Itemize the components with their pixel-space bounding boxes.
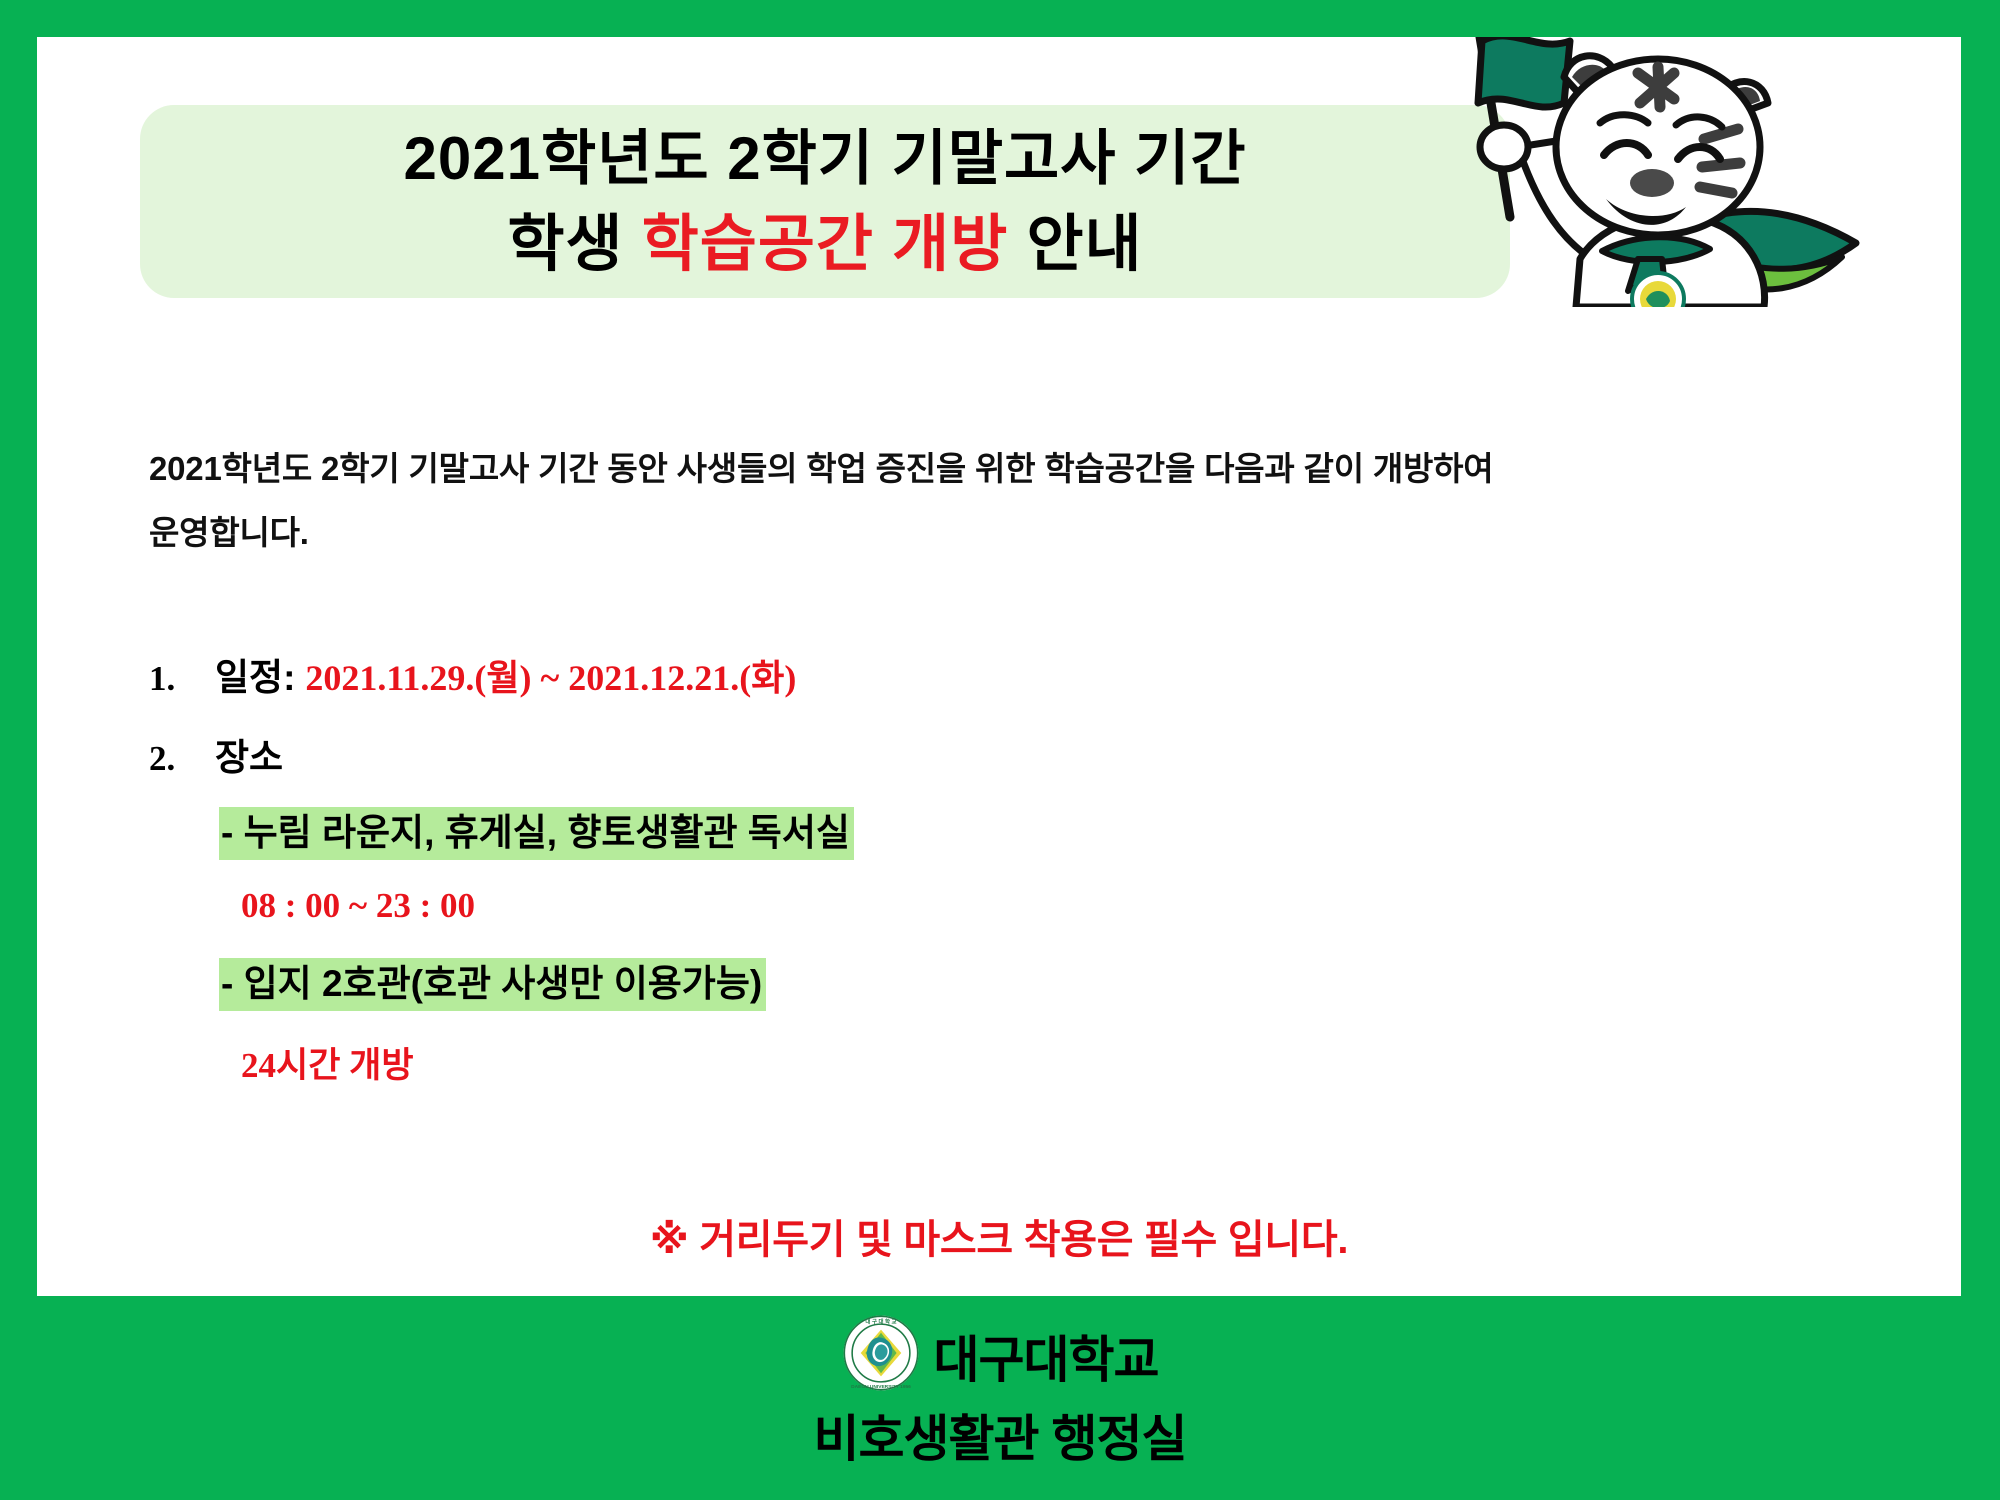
place-hours: 08 : 00 ~ 23 : 00 xyxy=(241,886,1549,926)
poster-footer: 대 구 대 학 교 DAEGU UNIVERSITY 1956 대구대학교 비호… xyxy=(0,1300,2000,1500)
svg-text:DAEGU UNIVERSITY 1956: DAEGU UNIVERSITY 1956 xyxy=(851,1384,911,1390)
caution-notice: ※ 거리두기 및 마스크 착용은 필수 입니다. xyxy=(37,1207,1961,1265)
place-name-highlight: - 입지 2호관(호관 사생만 이용가능) xyxy=(219,958,766,1011)
place-entry-1: - 누림 라운지, 휴게실, 향토생활관 독서실 08 : 00 ~ 23 : … xyxy=(219,807,1549,926)
schedule-date-range: 2021.11.29.(월) ~ 2021.12.21.(화) xyxy=(305,649,796,701)
list-item-place: 2. 장소 xyxy=(149,727,1549,781)
white-tiger-mascot-icon xyxy=(1452,37,1872,307)
place-details: - 누림 라운지, 휴게실, 향토생활관 독서실 08 : 00 ~ 23 : … xyxy=(219,807,1549,1088)
daegu-university-seal-icon: 대 구 대 학 교 DAEGU UNIVERSITY 1956 xyxy=(842,1314,920,1397)
list-item-label: 일정: xyxy=(215,647,295,701)
list-item-number: 2. xyxy=(149,739,215,779)
list-item-label: 장소 xyxy=(215,727,283,781)
place-name-highlight: - 누림 라운지, 휴게실, 향토생활관 독서실 xyxy=(219,807,854,860)
intro-paragraph: 2021학년도 2학기 기말고사 기간 동안 사생들의 학업 증진을 위한 학습… xyxy=(149,437,1529,565)
list-item-schedule: 1. 일정: 2021.11.29.(월) ~ 2021.12.21.(화) xyxy=(149,647,1549,701)
detail-list: 1. 일정: 2021.11.29.(월) ~ 2021.12.21.(화) 2… xyxy=(149,647,1549,1120)
white-content-sheet: 2021학년도 2학기 기말고사 기간 학생 학습공간 개방 안내 2021학년… xyxy=(37,37,1961,1296)
poster-root: 2021학년도 2학기 기말고사 기간 학생 학습공간 개방 안내 2021학년… xyxy=(0,0,2000,1500)
footer-university-row: 대 구 대 학 교 DAEGU UNIVERSITY 1956 대구대학교 xyxy=(842,1314,1159,1397)
footer-university-name: 대구대학교 xyxy=(934,1320,1159,1392)
place-hours: 24시간 개방 xyxy=(241,1037,1549,1088)
list-item-number: 1. xyxy=(149,659,215,699)
footer-office-name: 비호생활관 행정실 xyxy=(814,1399,1187,1471)
place-entry-2: - 입지 2호관(호관 사생만 이용가능) 24시간 개방 xyxy=(219,958,1549,1088)
title-banner xyxy=(140,105,1510,298)
